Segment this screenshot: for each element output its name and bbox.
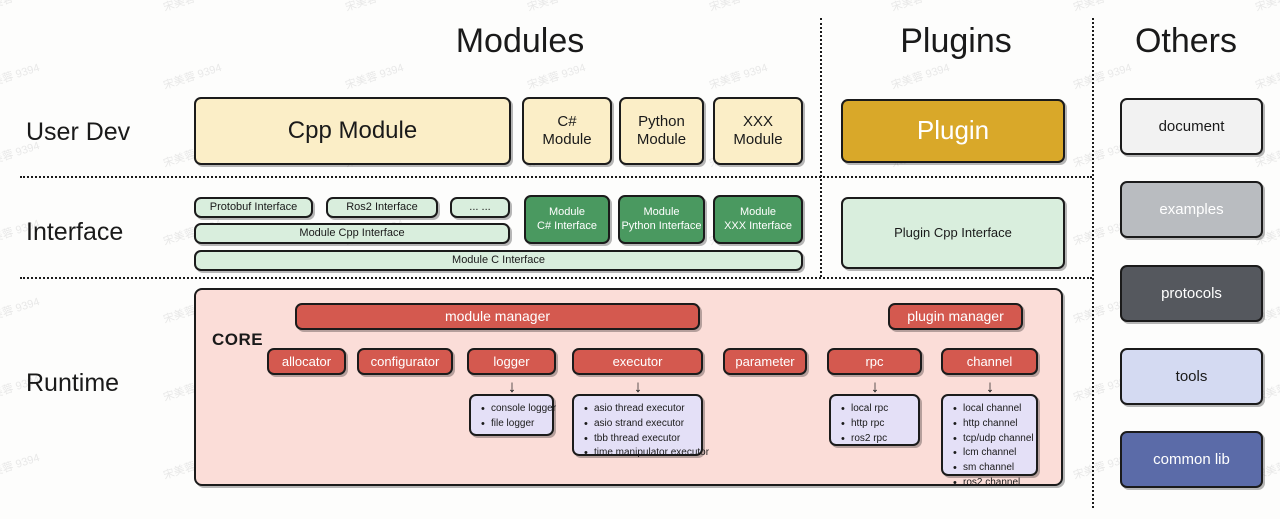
box-module-manager[interactable]: module manager [295, 303, 700, 330]
divider-interface-runtime [20, 277, 1092, 279]
bullet-list: local channelhttp channeltcp/udp channel… [943, 402, 1042, 491]
bullet-list: console loggerfile logger [471, 402, 564, 432]
box-label: Module Python Interface [621, 206, 701, 232]
box-label: channel [967, 354, 1013, 370]
box-xxx-module[interactable]: XXX Module [713, 97, 803, 165]
box-label: Cpp Module [288, 117, 417, 146]
core-label: CORE [212, 330, 263, 350]
column-title-others: Others [1096, 22, 1276, 61]
box-label: allocator [282, 354, 331, 370]
arrow-down-icon-rpc: ↓ [867, 378, 883, 395]
box-label: logger [493, 354, 529, 370]
box-logger[interactable]: logger [467, 348, 556, 375]
list-channel-children: local channelhttp channeltcp/udp channel… [941, 394, 1038, 476]
list-item: tbb thread executor [582, 432, 709, 447]
list-item: local channel [951, 402, 1034, 417]
box-executor[interactable]: executor [572, 348, 703, 375]
box-label: Ros2 Interface [346, 201, 418, 214]
box-label: plugin manager [907, 308, 1004, 325]
box-label: Module Cpp Interface [299, 227, 404, 240]
list-item: local rpc [839, 402, 888, 417]
row-label-user-dev: User Dev [26, 118, 130, 147]
box-label: document [1159, 118, 1225, 136]
box-label: Module XXX Interface [724, 206, 792, 232]
architecture-diagram: 宋美蓉 9394宋美蓉 9394宋美蓉 9394宋美蓉 9394宋美蓉 9394… [0, 0, 1280, 519]
box-label: Plugin [917, 115, 989, 146]
box-csharp-module[interactable]: C# Module [522, 97, 612, 165]
box-more-interface[interactable]: ... ... [450, 197, 510, 218]
box-plugin-manager[interactable]: plugin manager [888, 303, 1023, 330]
list-item: ros2 rpc [839, 432, 888, 447]
box-parameter[interactable]: parameter [723, 348, 807, 375]
box-label: Protobuf Interface [210, 201, 297, 214]
box-label: Plugin Cpp Interface [894, 225, 1012, 241]
row-label-interface: Interface [26, 218, 123, 247]
box-others-protocols[interactable]: protocols [1120, 265, 1263, 322]
box-cpp-module[interactable]: Cpp Module [194, 97, 511, 165]
box-module-c-interface[interactable]: Module C Interface [194, 250, 803, 271]
column-title-plugins: Plugins [824, 22, 1088, 61]
list-rpc-children: local rpchttp rpcros2 rpc [829, 394, 920, 446]
bullet-list: asio thread executorasio strand executor… [574, 402, 717, 461]
box-allocator[interactable]: allocator [267, 348, 346, 375]
box-label: parameter [735, 354, 794, 370]
box-label: common lib [1153, 451, 1230, 469]
box-plugin[interactable]: Plugin [841, 99, 1065, 163]
box-module-xxx-interface[interactable]: Module XXX Interface [713, 195, 803, 244]
box-label: ... ... [469, 201, 490, 214]
box-plugin-cpp-interface[interactable]: Plugin Cpp Interface [841, 197, 1065, 269]
list-item: lcm channel [951, 446, 1034, 461]
box-ros2-interface[interactable]: Ros2 Interface [326, 197, 438, 218]
box-label: module manager [445, 308, 550, 325]
box-label: rpc [865, 354, 883, 370]
list-logger-children: console loggerfile logger [469, 394, 554, 436]
box-others-tools[interactable]: tools [1120, 348, 1263, 405]
list-item: asio strand executor [582, 417, 709, 432]
box-label: tools [1176, 368, 1208, 386]
box-label: Module C Interface [452, 254, 545, 267]
bullet-list: local rpchttp rpcros2 rpc [831, 402, 896, 446]
list-item: tcp/udp channel [951, 432, 1034, 447]
list-executor-children: asio thread executorasio strand executor… [572, 394, 703, 456]
box-configurator[interactable]: configurator [357, 348, 453, 375]
box-others-common-lib[interactable]: common lib [1120, 431, 1263, 488]
list-item: console logger [479, 402, 556, 417]
box-label: executor [613, 354, 663, 370]
list-item: sm channel [951, 461, 1034, 476]
box-label: XXX Module [733, 113, 782, 149]
box-channel[interactable]: channel [941, 348, 1038, 375]
list-item: file logger [479, 417, 556, 432]
box-others-document[interactable]: document [1120, 98, 1263, 155]
list-item: http channel [951, 417, 1034, 432]
arrow-down-icon-channel: ↓ [982, 378, 998, 395]
box-module-csharp-interface[interactable]: Module C# Interface [524, 195, 610, 244]
list-item: asio thread executor [582, 402, 709, 417]
box-label: examples [1159, 201, 1223, 219]
box-module-python-interface[interactable]: Module Python Interface [618, 195, 705, 244]
divider-plugins-others [1092, 18, 1094, 508]
box-others-examples[interactable]: examples [1120, 181, 1263, 238]
row-label-runtime: Runtime [26, 369, 119, 398]
box-python-module[interactable]: Python Module [619, 97, 704, 165]
divider-modules-plugins [820, 18, 822, 277]
box-label: Python Module [637, 113, 686, 149]
divider-userdev-interface [20, 176, 1092, 178]
list-item: time manipulator executor [582, 446, 709, 461]
box-label: protocols [1161, 285, 1222, 303]
box-label: C# Module [542, 113, 591, 149]
box-module-cpp-interface[interactable]: Module Cpp Interface [194, 223, 510, 244]
list-item: http rpc [839, 417, 888, 432]
box-protobuf-interface[interactable]: Protobuf Interface [194, 197, 313, 218]
arrow-down-icon-logger: ↓ [504, 378, 520, 395]
column-title-modules: Modules [250, 22, 790, 61]
box-rpc[interactable]: rpc [827, 348, 922, 375]
arrow-down-icon-executor: ↓ [630, 378, 646, 395]
list-item: ros2 channel [951, 476, 1034, 491]
box-label: configurator [371, 354, 440, 370]
box-label: Module C# Interface [537, 206, 597, 232]
